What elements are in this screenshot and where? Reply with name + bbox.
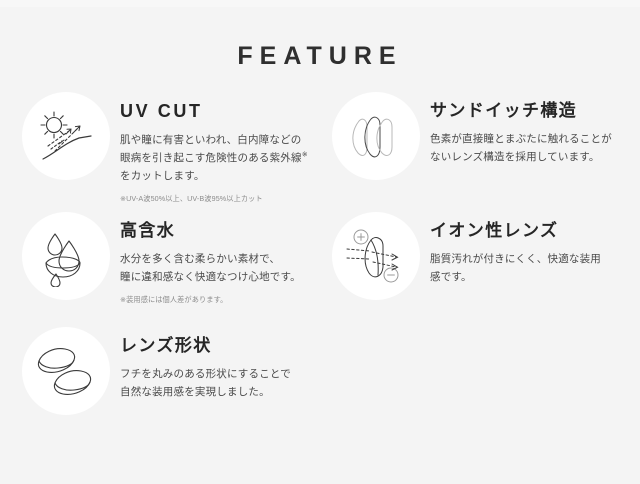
feature-text-line: 脂質汚れが付きにくく、快適な装用 (430, 253, 601, 265)
sun-uv-block-icon (22, 92, 110, 180)
feature-page: FEATURE (0, 0, 640, 484)
feature-text: フチを丸みのある形状にすることで 自然な装用感を実現しました。 (120, 365, 332, 401)
feature-heading: UV CUT (120, 102, 332, 122)
feature-text: 脂質汚れが付きにくく、快適な装用 感です。 (430, 250, 640, 286)
feature-text-line: 瞳に違和感なく快適なつけ心地です。 (120, 271, 301, 283)
feature-item-sandwich-structure: サンドイッチ構造 色素が直接瞳とまぶたに触れることが ないレンズ構造を採用してい… (332, 92, 640, 180)
water-drop-lens-icon (22, 212, 110, 300)
feature-text-line: 感です。 (430, 271, 472, 283)
top-band (0, 0, 640, 7)
feature-text: 肌や瞳に有害といわれ、白内障などの 眼病を引き起こす危険性のある紫外線※ をカッ… (120, 131, 332, 185)
ion-charge-lens-icon (332, 212, 420, 300)
sandwich-layers-icon (332, 92, 420, 180)
feature-text-line: 水分を多く含む柔らかい素材で、 (120, 253, 280, 265)
two-lens-shape-icon (22, 327, 110, 415)
feature-item-ionic-lens: イオン性レンズ 脂質汚れが付きにくく、快適な装用 感です。 (332, 212, 640, 300)
feature-body: レンズ形状 フチを丸みのある形状にすることで 自然な装用感を実現しました。 (120, 327, 332, 401)
feature-text-line: フチを丸みのある形状にすることで (120, 368, 291, 380)
page-title: FEATURE (0, 42, 640, 71)
feature-text: 色素が直接瞳とまぶたに触れることが ないレンズ構造を採用しています。 (430, 130, 640, 166)
feature-body: 高含水 水分を多く含む柔らかい素材で、 瞳に違和感なく快適なつけ心地です。 ※装… (120, 212, 332, 306)
feature-text-line: ないレンズ構造を採用しています。 (430, 151, 600, 163)
feature-note: ※UV-A波50%以上、UV-B波95%以上カット (120, 194, 332, 205)
feature-heading: イオン性レンズ (430, 222, 640, 241)
feature-item-uv-cut: UV CUT 肌や瞳に有害といわれ、白内障などの 眼病を引き起こす危険性のある紫… (22, 92, 332, 205)
feature-body: サンドイッチ構造 色素が直接瞳とまぶたに触れることが ないレンズ構造を採用してい… (430, 92, 640, 166)
feature-text-line: をカットします。 (120, 170, 205, 182)
feature-item-high-water-content: 高含水 水分を多く含む柔らかい素材で、 瞳に違和感なく快適なつけ心地です。 ※装… (22, 212, 332, 306)
feature-text-line: 眼病を引き起こす危険性のある紫外線 (120, 152, 302, 164)
feature-text: 水分を多く含む柔らかい素材で、 瞳に違和感なく快適なつけ心地です。 (120, 250, 332, 286)
feature-heading: サンドイッチ構造 (430, 102, 640, 121)
feature-item-lens-shape: レンズ形状 フチを丸みのある形状にすることで 自然な装用感を実現しました。 (22, 327, 332, 415)
feature-text-line: 自然な装用感を実現しました。 (120, 386, 270, 398)
feature-text-marker: ※ (302, 151, 308, 158)
feature-heading: レンズ形状 (120, 337, 332, 356)
feature-body: イオン性レンズ 脂質汚れが付きにくく、快適な装用 感です。 (430, 212, 640, 286)
feature-text-line: 肌や瞳に有害といわれ、白内障などの (120, 134, 301, 146)
feature-heading: 高含水 (120, 222, 332, 241)
feature-body: UV CUT 肌や瞳に有害といわれ、白内障などの 眼病を引き起こす危険性のある紫… (120, 92, 332, 205)
feature-note: ※装用感には個人差があります。 (120, 295, 332, 306)
feature-text-line: 色素が直接瞳とまぶたに触れることが (430, 133, 612, 145)
